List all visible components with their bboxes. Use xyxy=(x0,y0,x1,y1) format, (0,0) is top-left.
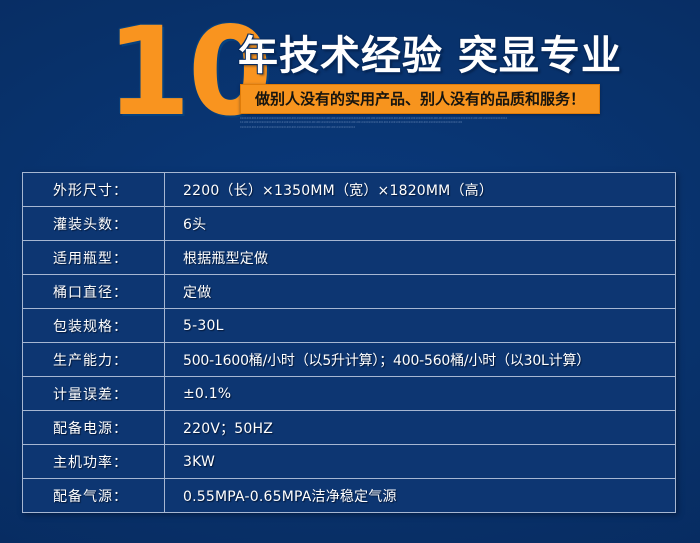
table-row: 包装规格： 5-30L xyxy=(23,309,676,343)
spec-value: ±0.1% xyxy=(165,377,676,411)
page-title: 年技术经验 突显专业 xyxy=(238,33,622,79)
spec-label: 外形尺寸： xyxy=(23,173,165,207)
table-row: 桶口直径： 定做 xyxy=(23,275,676,309)
table-row: 配备气源： 0.55MPA-0.65MPA洁净稳定气源 xyxy=(23,479,676,513)
spec-value: 5-30L xyxy=(165,309,676,343)
spec-value: 定做 xyxy=(165,275,676,309)
specification-table: 外形尺寸： 2200（长）×1350MM（宽）×1820MM（高） 灌装头数： … xyxy=(22,172,676,513)
spec-label: 生产能力： xyxy=(23,343,165,377)
table-row: 灌装头数： 6头 xyxy=(23,207,676,241)
spec-value: 6头 xyxy=(165,207,676,241)
spec-label: 配备电源： xyxy=(23,411,165,445)
spec-label: 配备气源： xyxy=(23,479,165,513)
microtext-line: 0101001001010010010100100101001001010010… xyxy=(240,126,463,130)
slogan-banner: 做别人没有的实用产品、别人没有的品质和服务！ xyxy=(240,84,600,114)
spec-value: 220V；50HZ xyxy=(165,411,676,445)
spec-value: 2200（长）×1350MM（宽）×1820MM（高） xyxy=(165,173,676,207)
spec-value: 500-1600桶/小时（以5升计算）；400-560桶/小时（以30L计算） xyxy=(165,343,676,377)
table-row: 生产能力： 500-1600桶/小时（以5升计算）；400-560桶/小时（以3… xyxy=(23,343,676,377)
spec-value: 根据瓶型定做 xyxy=(165,241,676,275)
spec-value: 3KW xyxy=(165,445,676,479)
spec-label: 主机功率： xyxy=(23,445,165,479)
table-row: 适用瓶型： 根据瓶型定做 xyxy=(23,241,676,275)
spec-label: 计量误差： xyxy=(23,377,165,411)
table-row: 外形尺寸： 2200（长）×1350MM（宽）×1820MM（高） xyxy=(23,173,676,207)
slogan-text: 做别人没有的实用产品、别人没有的品质和服务！ xyxy=(241,85,599,113)
table-row: 配备电源： 220V；50HZ xyxy=(23,411,676,445)
spec-label: 灌装头数： xyxy=(23,207,165,241)
table-row: 主机功率： 3KW xyxy=(23,445,676,479)
table-row: 计量误差： ±0.1% xyxy=(23,377,676,411)
spec-value: 0.55MPA-0.65MPA洁净稳定气源 xyxy=(165,479,676,513)
spec-table-body: 外形尺寸： 2200（长）×1350MM（宽）×1820MM（高） 灌装头数： … xyxy=(23,173,676,513)
decorative-microtext: 0101001001010010010100100101001001010010… xyxy=(240,117,600,135)
promo-header: 10 年技术经验 突显专业 做别人没有的实用产品、别人没有的品质和服务！ 010… xyxy=(0,0,700,160)
spec-label: 桶口直径： xyxy=(23,275,165,309)
spec-label: 包装规格： xyxy=(23,309,165,343)
product-spec-banner: 10 年技术经验 突显专业 做别人没有的实用产品、别人没有的品质和服务！ 010… xyxy=(0,0,700,543)
spec-label: 适用瓶型： xyxy=(23,241,165,275)
